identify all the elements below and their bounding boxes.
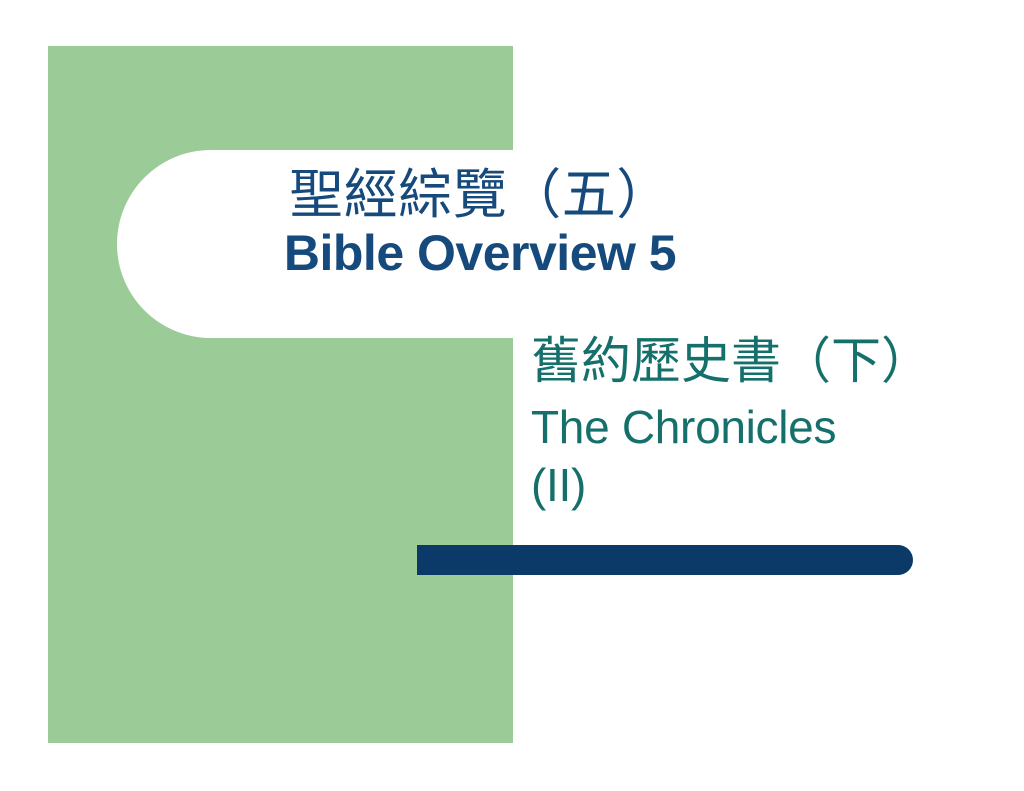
title-chinese: 聖經綜覽（五） — [180, 168, 780, 222]
slide-subtitle: 舊約歷史書（下） The Chronicles (II) — [531, 336, 971, 508]
title-english: Bible Overview 5 — [180, 228, 780, 278]
slide-title: 聖經綜覽（五） Bible Overview 5 — [180, 168, 780, 278]
title-slide: 聖經綜覽（五） Bible Overview 5 舊約歷史書（下） The Ch… — [0, 0, 1024, 791]
subtitle-english-line-1: The Chronicles — [531, 404, 971, 450]
subtitle-english-line-2: (II) — [531, 462, 971, 508]
navy-accent-bar-decoration — [417, 545, 913, 575]
subtitle-chinese: 舊約歷史書（下） — [531, 336, 971, 386]
